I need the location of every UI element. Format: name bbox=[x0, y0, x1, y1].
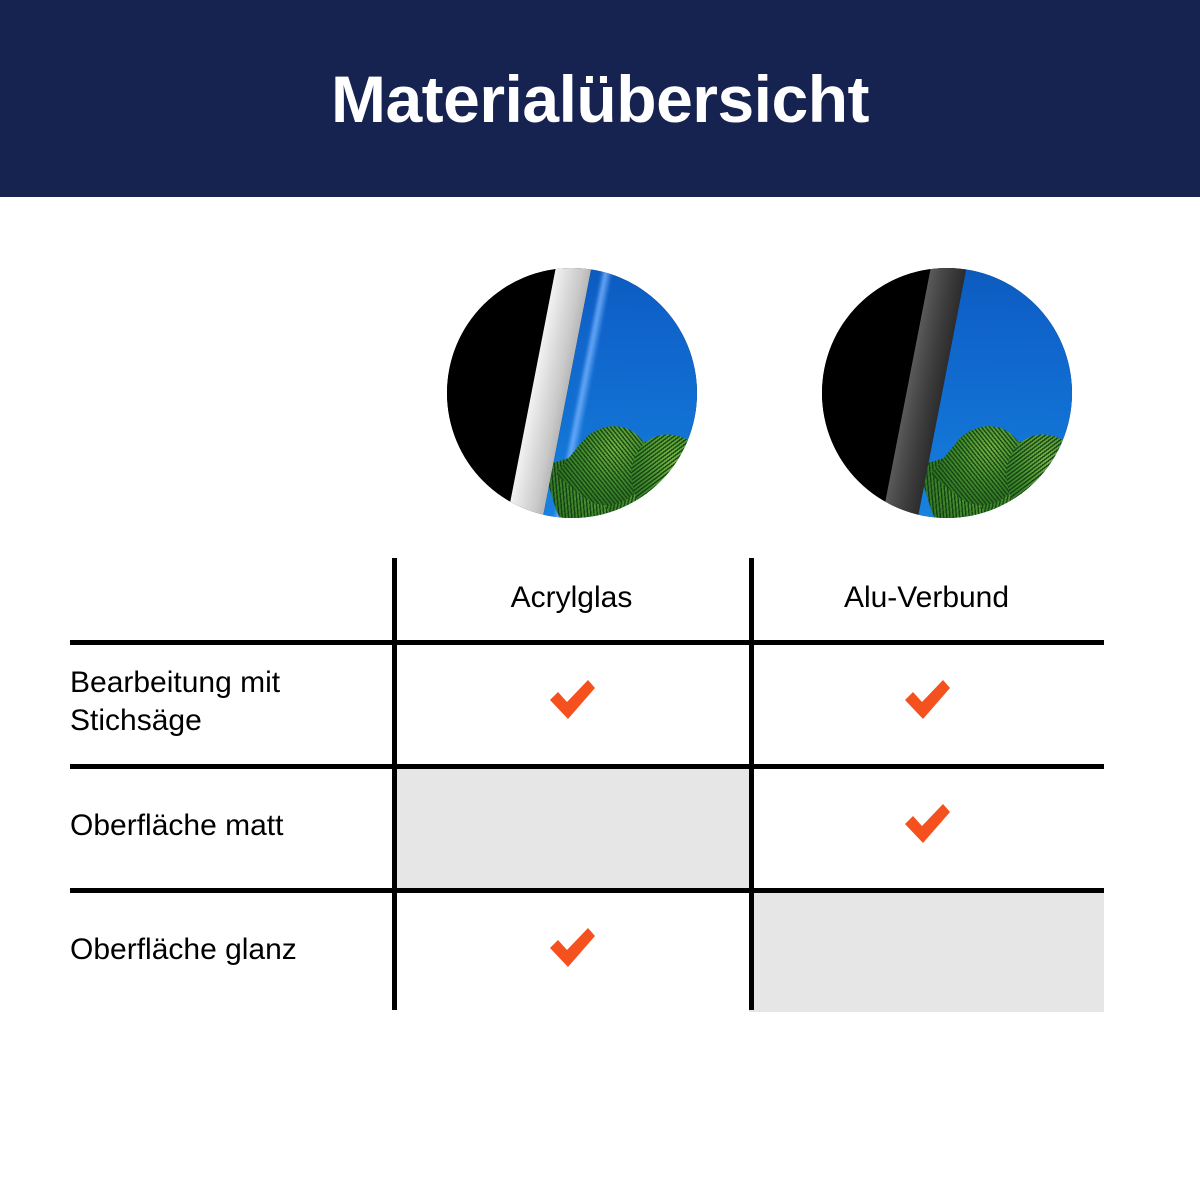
row-label-line: Stichsäge bbox=[70, 702, 394, 740]
row-label-oberflaeche-glanz: Oberfläche glanz bbox=[70, 888, 394, 1012]
table-row: Oberfläche matt bbox=[70, 764, 1104, 888]
comparison-grid: Acrylglas Alu-Verbund Bearbeitung mit St… bbox=[70, 556, 1104, 1012]
row-label-line: Oberfläche matt bbox=[70, 807, 394, 845]
cell-bearbeitung-acrylglas bbox=[394, 640, 749, 764]
column-divider-rule bbox=[392, 558, 397, 1010]
cell-glanz-acrylglas bbox=[394, 888, 749, 1012]
material-comparison-table: Acrylglas Alu-Verbund Bearbeitung mit St… bbox=[70, 556, 1104, 1012]
row-label-line: Oberfläche glanz bbox=[70, 931, 394, 969]
table-row: Oberfläche glanz bbox=[70, 888, 1104, 1012]
row-label-line: Bearbeitung mit bbox=[70, 664, 394, 702]
header-divider-rule bbox=[70, 640, 1104, 645]
acrylglas-sample-image bbox=[447, 268, 697, 518]
photo-stage bbox=[822, 268, 1072, 518]
row-label-bearbeitung-stichsaege: Bearbeitung mit Stichsäge bbox=[70, 640, 394, 764]
check-icon bbox=[901, 801, 953, 847]
check-icon bbox=[546, 925, 598, 971]
cell-matt-acrylglas bbox=[394, 764, 749, 888]
row-label-oberflaeche-matt: Oberfläche matt bbox=[70, 764, 394, 888]
page-title: Materialübersicht bbox=[331, 66, 869, 132]
photo-stage bbox=[447, 268, 697, 518]
cell-glanz-alu-verbund bbox=[749, 888, 1104, 1012]
column-divider-rule bbox=[749, 558, 754, 1010]
column-header-acrylglas: Acrylglas bbox=[394, 556, 749, 640]
palm-frond bbox=[1065, 323, 1072, 455]
check-icon bbox=[546, 677, 598, 723]
alu-verbund-sample-image bbox=[822, 268, 1072, 518]
column-header-alu-verbund: Alu-Verbund bbox=[749, 556, 1104, 640]
table-row: Bearbeitung mit Stichsäge bbox=[70, 640, 1104, 764]
table-corner-cell bbox=[70, 556, 394, 640]
row-divider-rule bbox=[70, 888, 1104, 893]
cell-bearbeitung-alu-verbund bbox=[749, 640, 1104, 764]
row-divider-rule bbox=[70, 764, 1104, 769]
palm-frond bbox=[690, 323, 697, 455]
material-samples-row bbox=[0, 268, 1200, 518]
check-icon bbox=[901, 677, 953, 723]
palm-frond bbox=[689, 268, 697, 343]
material-slab bbox=[447, 268, 697, 518]
palm-frond bbox=[1064, 268, 1072, 343]
table-header-row: Acrylglas Alu-Verbund bbox=[70, 556, 1104, 640]
material-slab bbox=[822, 268, 1072, 518]
cell-matt-alu-verbund bbox=[749, 764, 1104, 888]
header-banner: Materialübersicht bbox=[0, 0, 1200, 197]
